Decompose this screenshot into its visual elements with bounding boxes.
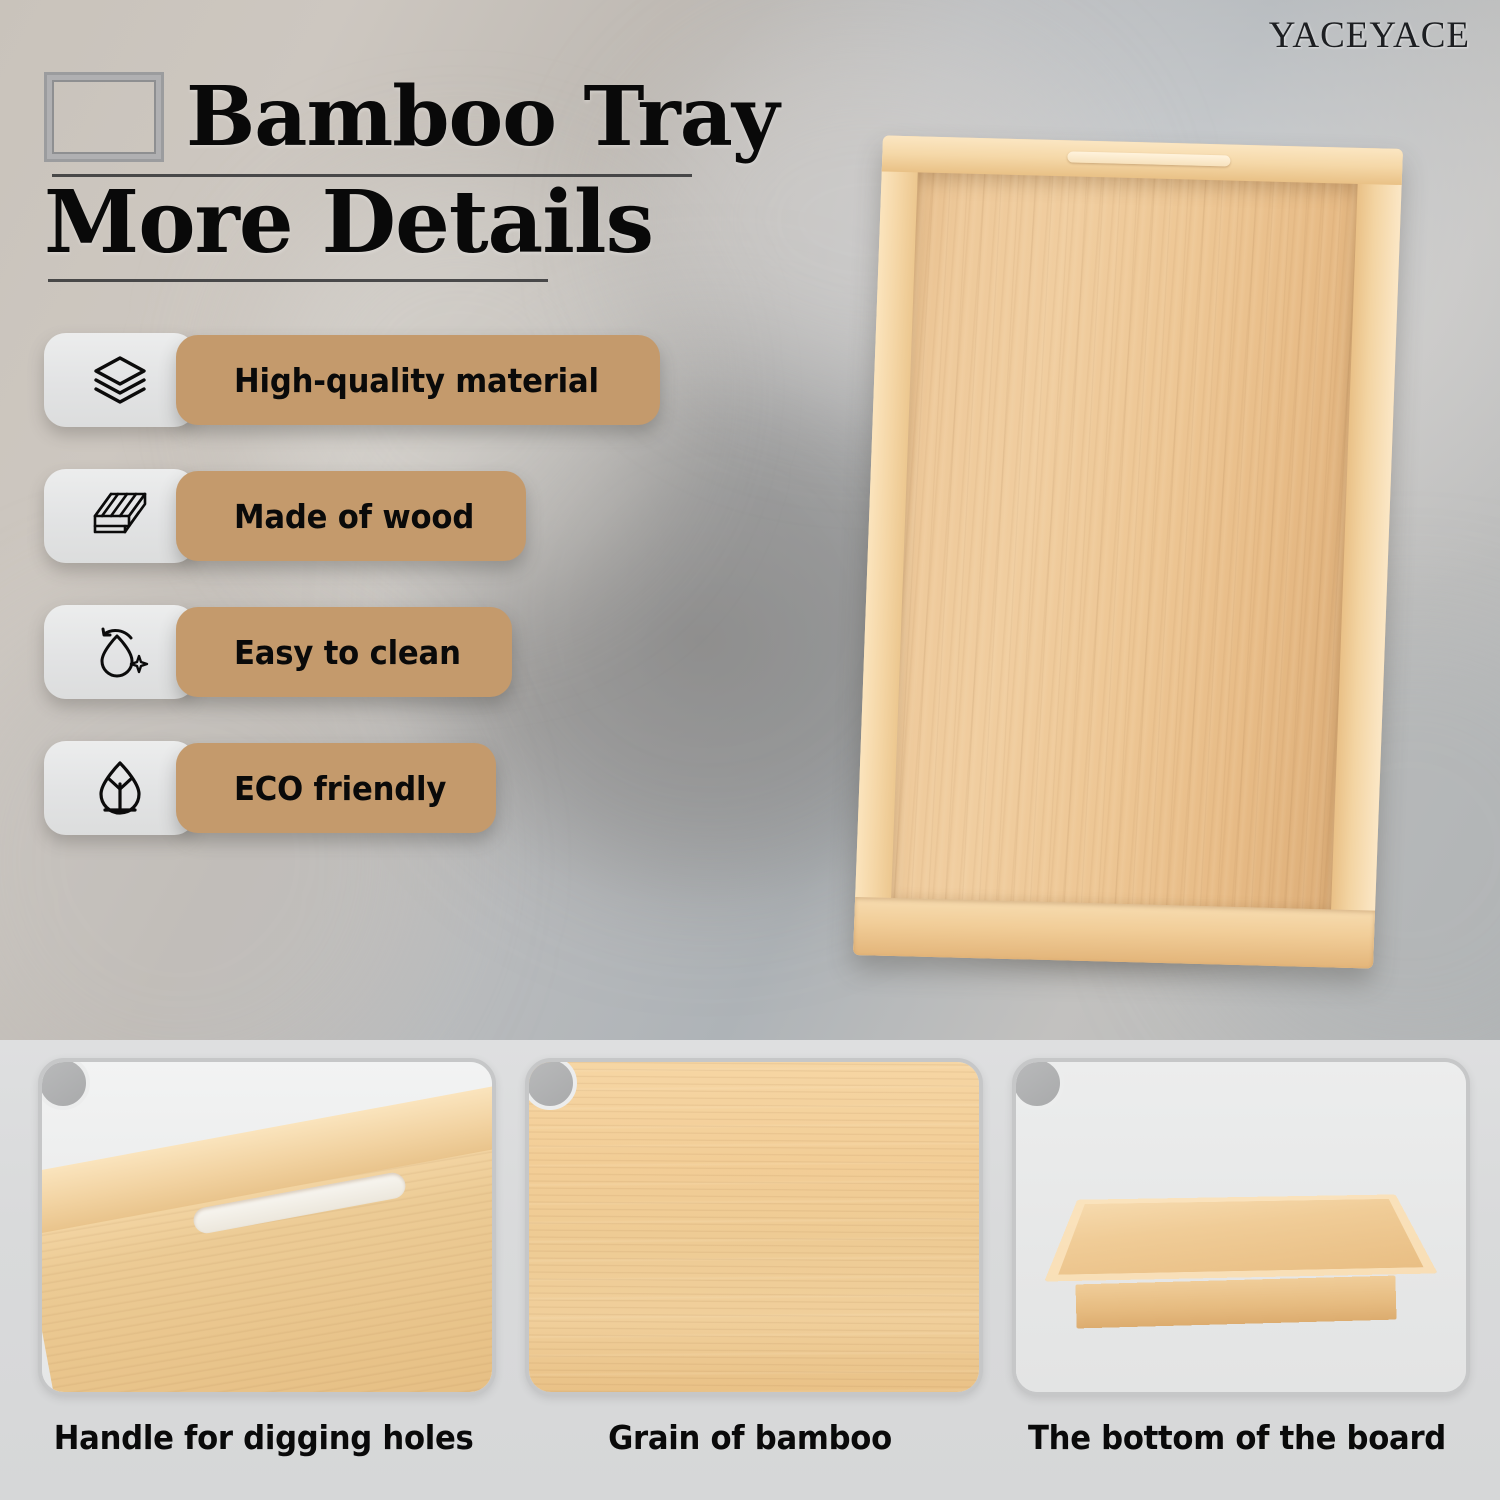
tray-angled xyxy=(1064,1158,1416,1308)
infographic-page: YACEYACE Bamboo Tray More Details xyxy=(0,0,1500,1500)
tray-top-face xyxy=(1044,1194,1437,1281)
tray-interior xyxy=(889,170,1360,911)
layers-icon xyxy=(91,353,149,407)
rectangle-outline-icon xyxy=(44,72,164,162)
bamboo-grain-texture xyxy=(529,1062,979,1392)
feature-icon-card xyxy=(44,605,196,699)
page-title: Bamboo Tray xyxy=(186,77,779,157)
thumbnail-caption: Grain of bamboo xyxy=(541,1418,960,1457)
thumbnail-row: Handle for digging holes Grain of bamboo xyxy=(0,1058,1500,1457)
feature-icon-card xyxy=(44,333,196,427)
wood-planks-icon xyxy=(89,488,151,544)
feature-pill: Made of wood xyxy=(176,471,526,561)
feature-label: High-quality material xyxy=(234,361,599,400)
thumbnail-bottom[interactable]: The bottom of the board xyxy=(1012,1058,1462,1457)
thumbnail-caption: Handle for digging holes xyxy=(54,1418,473,1457)
feature-pill: ECO friendly xyxy=(176,743,496,833)
feature-label: Made of wood xyxy=(234,497,474,536)
thumbnail-grain[interactable]: Grain of bamboo xyxy=(525,1058,975,1457)
subtitle-divider xyxy=(48,279,548,282)
feature-icon-card xyxy=(44,741,196,835)
thumbnail-caption: The bottom of the board xyxy=(1028,1418,1447,1457)
thumbnail-frame xyxy=(38,1058,496,1396)
feature-label: Easy to clean xyxy=(234,633,461,672)
thumbnail-frame xyxy=(1012,1058,1470,1396)
thumbnail-frame xyxy=(525,1058,983,1396)
thumbnail-handle[interactable]: Handle for digging holes xyxy=(38,1058,488,1457)
page-subtitle: More Details xyxy=(44,181,874,265)
bamboo-grain xyxy=(889,170,1360,911)
tray-front-face xyxy=(1075,1276,1396,1329)
feature-pill: High-quality material xyxy=(176,335,660,425)
detail-thumbnails-band: Handle for digging holes Grain of bamboo xyxy=(0,1040,1500,1500)
title-divider xyxy=(52,174,692,177)
brand-logo: YACEYACE xyxy=(1269,14,1470,57)
bamboo-tray xyxy=(853,135,1403,968)
feature-label: ECO friendly xyxy=(234,769,446,808)
water-drop-clean-icon xyxy=(90,623,150,681)
title-block: Bamboo Tray More Details xyxy=(44,72,874,282)
leaf-icon xyxy=(92,758,148,818)
feature-icon-card xyxy=(44,469,196,563)
feature-pill: Easy to clean xyxy=(176,607,512,697)
hero-product-image xyxy=(810,120,1460,1020)
title-line-1-row: Bamboo Tray xyxy=(44,72,874,162)
